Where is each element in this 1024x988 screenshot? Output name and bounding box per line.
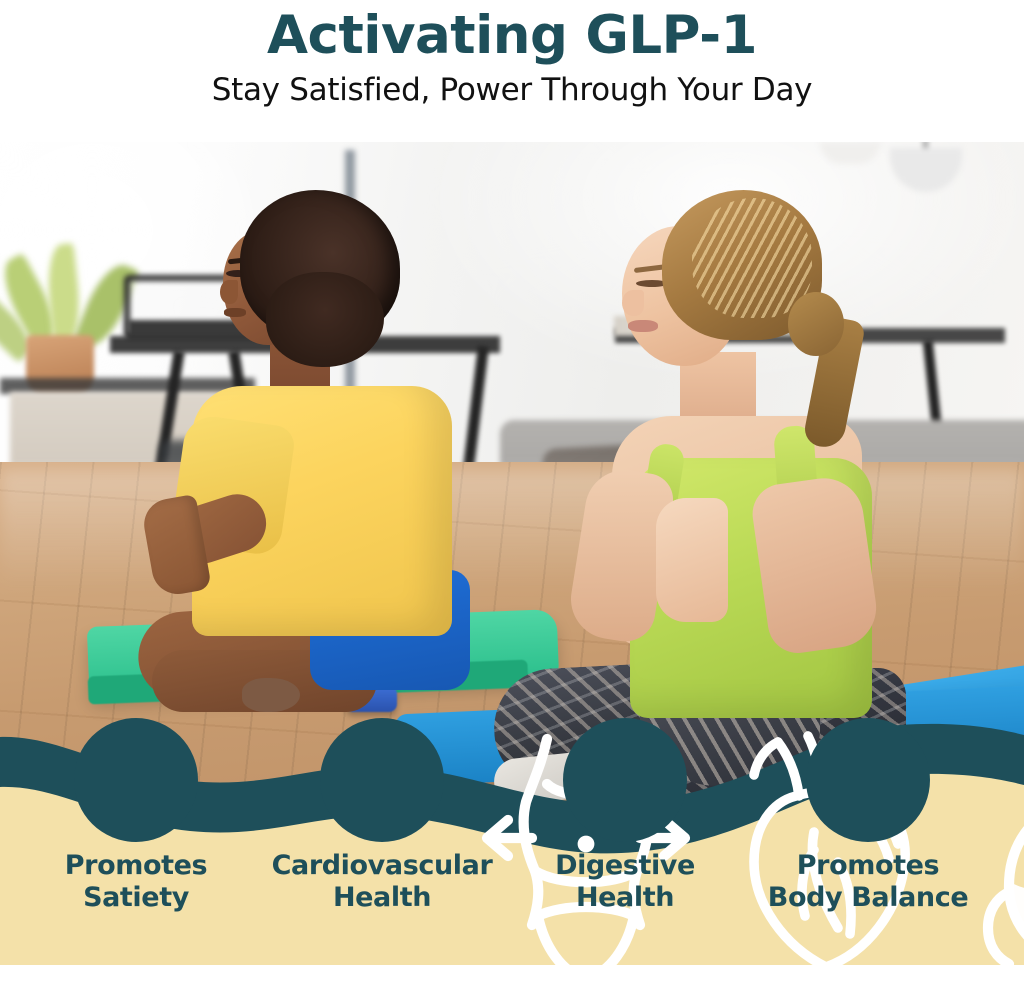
benefit-label-3: Digestive Health	[505, 850, 745, 913]
man-meditating	[120, 180, 450, 740]
woman-hair-strands	[692, 198, 812, 318]
benefit-label-3-line1: Digestive	[505, 850, 745, 882]
woman-lips	[628, 320, 658, 332]
benefit-label-1-line2: Satiety	[16, 882, 256, 914]
benefit-label-2-line2: Health	[262, 882, 502, 914]
benefits-banner: Promotes Satiety Cardiovascular Health D…	[0, 695, 1024, 965]
benefit-labels-row: Promotes Satiety Cardiovascular Health D…	[0, 695, 1024, 965]
benefit-label-2-line1: Cardiovascular	[262, 850, 502, 882]
benefit-label-4-line1: Promotes	[748, 850, 988, 882]
benefit-label-1: Promotes Satiety	[16, 850, 256, 913]
benefit-label-1-line1: Promotes	[16, 850, 256, 882]
woman-nose	[622, 290, 644, 316]
man-nose	[220, 280, 238, 304]
woman-prayer-hands	[656, 498, 728, 622]
woman-hair-bun	[788, 292, 844, 356]
header: Activating GLP-1 Stay Satisfied, Power T…	[0, 0, 1024, 142]
page-subtitle: Stay Satisfied, Power Through Your Day	[0, 73, 1024, 107]
benefit-label-3-line2: Health	[505, 882, 745, 914]
benefit-label-4: Promotes Body Balance	[748, 850, 988, 913]
man-lips	[224, 308, 246, 317]
page-title: Activating GLP-1	[0, 0, 1024, 64]
benefit-label-2: Cardiovascular Health	[262, 850, 502, 913]
woman-meditating	[470, 168, 1024, 768]
man-hair-back	[266, 272, 384, 367]
benefit-label-4-line2: Body Balance	[748, 882, 988, 914]
